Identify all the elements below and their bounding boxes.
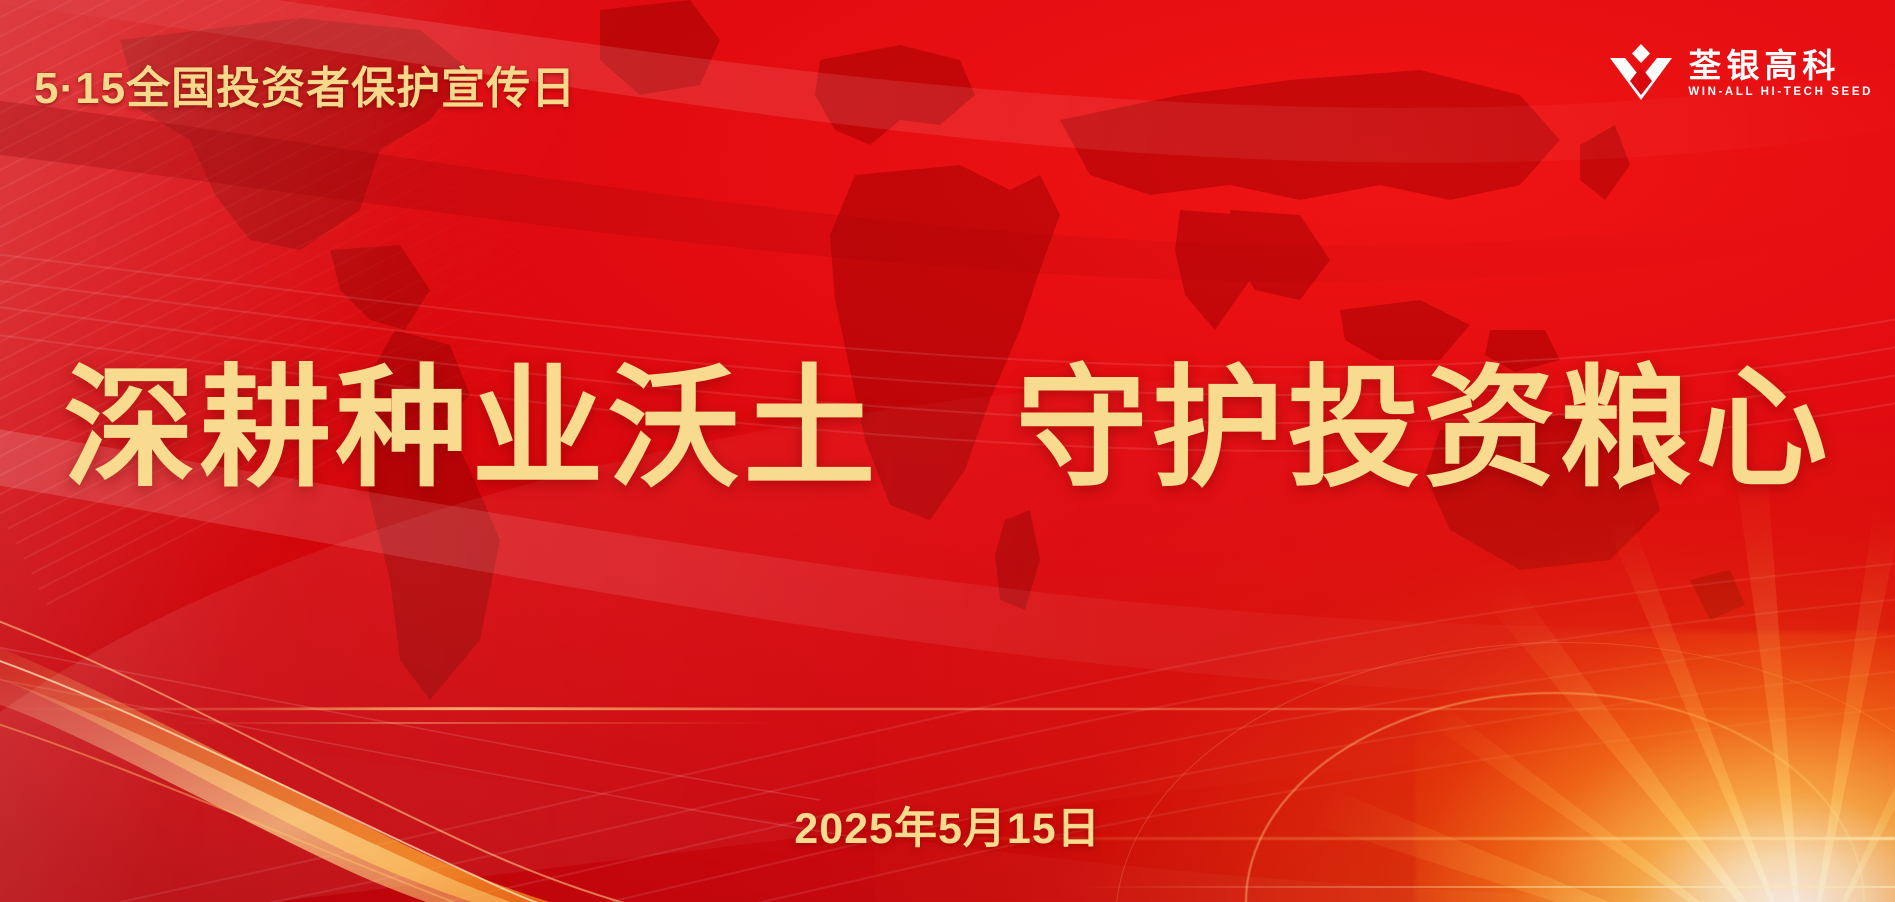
chevron-diamond-logo-icon xyxy=(1608,44,1674,102)
main-headline: 深耕种业沃土 守护投资粮心 xyxy=(0,355,1895,503)
brand-wordmark: 荃银高科 WIN-ALL HI-TECH SEED xyxy=(1688,48,1873,99)
campaign-eyebrow-title: 5·15全国投资者保护宣传日 xyxy=(34,52,576,116)
brand-name-en: WIN-ALL HI-TECH SEED xyxy=(1688,86,1873,98)
poster-banner: 5·15全国投资者保护宣传日 荃银高科 WIN-ALL HI-TECH SEED… xyxy=(0,0,1895,902)
poster-content: 5·15全国投资者保护宣传日 荃银高科 WIN-ALL HI-TECH SEED… xyxy=(0,0,1895,902)
brand-logo: 荃银高科 WIN-ALL HI-TECH SEED xyxy=(1608,44,1873,102)
event-date: 2025年5月15日 xyxy=(0,794,1895,856)
brand-name-cn: 荃银高科 xyxy=(1688,48,1840,84)
